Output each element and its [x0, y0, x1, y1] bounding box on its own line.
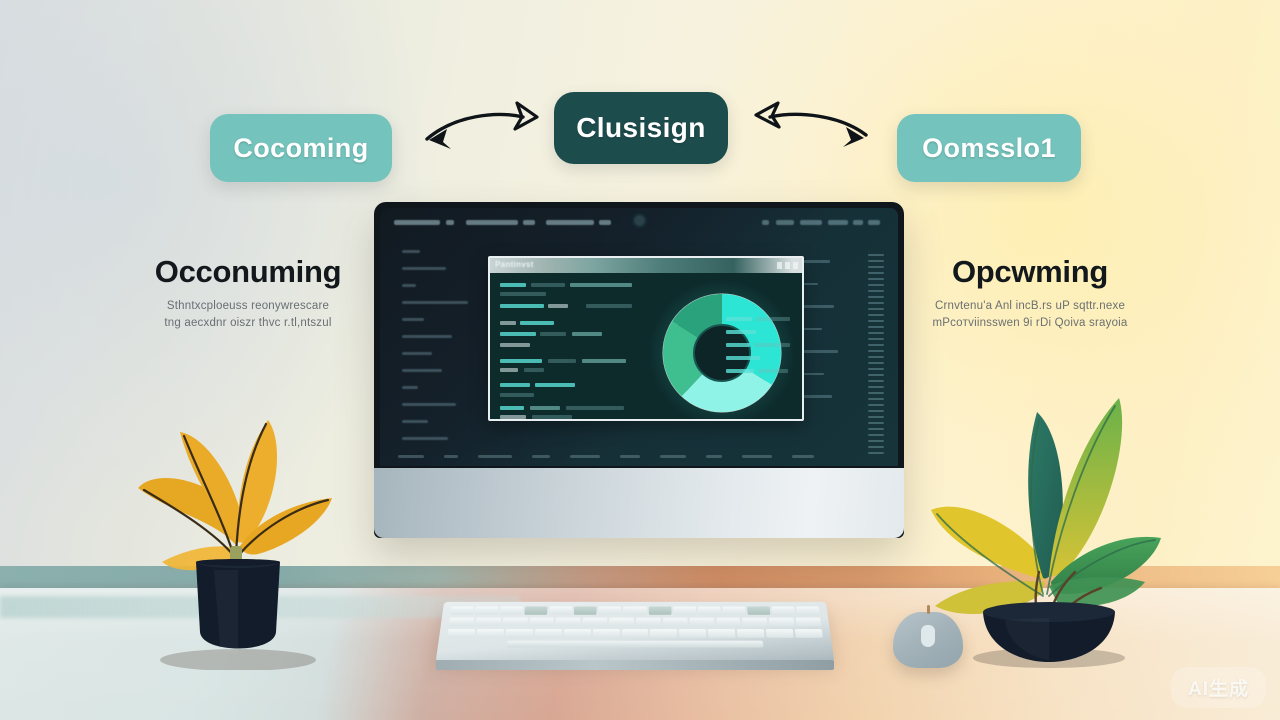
- donut-chart-svg: [660, 291, 784, 415]
- sidebar-line: [402, 403, 456, 406]
- report-text-line: [726, 356, 760, 360]
- topbar-status-2[interactable]: [776, 220, 794, 225]
- sidebar-line: [402, 369, 442, 372]
- report-text-line: [520, 321, 554, 325]
- right-ruler-scale: [868, 254, 884, 454]
- report-text-line: [500, 383, 530, 387]
- monitor-screen[interactable]: Pantinvst: [380, 208, 898, 466]
- inner-window[interactable]: Pantinvst: [488, 256, 804, 421]
- plant-left-pot: [160, 559, 316, 670]
- report-text-line: [524, 368, 544, 372]
- plant-left-leaves: [138, 420, 332, 570]
- report-text-line: [530, 406, 560, 410]
- report-text-line: [548, 304, 568, 308]
- inner-window-title: Pantinvst: [495, 260, 534, 269]
- keyboard-row: [450, 606, 820, 614]
- monitor-chin: [374, 468, 904, 538]
- report-text-line: [500, 321, 516, 325]
- report-text-line: [500, 304, 544, 308]
- monitor: Pantinvst: [374, 202, 904, 538]
- badge-right[interactable]: Oomsslo1: [897, 114, 1081, 182]
- topbar-status-1[interactable]: [762, 220, 769, 225]
- keyboard-deck[interactable]: [436, 602, 835, 662]
- keyboard-rows: [446, 606, 824, 647]
- keyboard-base-edge: [436, 660, 834, 670]
- side-left-title: Occonuming: [118, 256, 378, 289]
- badge-left[interactable]: Cocoming: [210, 114, 392, 182]
- plant-right-leaves: [931, 398, 1161, 618]
- topbar-status-6[interactable]: [868, 220, 880, 225]
- report-text-line: [500, 393, 534, 397]
- topbar-menu-item-3[interactable]: [546, 220, 594, 225]
- dashboard-sidebar: [402, 250, 502, 454]
- ai-generated-watermark: AI生成: [1171, 667, 1266, 708]
- side-right-title: Opcwming: [900, 256, 1160, 289]
- right-metric-lines: [804, 260, 856, 418]
- sidebar-line: [402, 301, 468, 304]
- sidebar-line: [402, 250, 420, 253]
- keyboard-row: [447, 629, 823, 638]
- sidebar-line: [402, 318, 424, 321]
- report-text-line: [500, 368, 518, 372]
- report-text-line: [500, 406, 524, 410]
- topbar-menu-item-2b[interactable]: [523, 220, 535, 225]
- keyboard-row: [449, 618, 822, 627]
- monitor-bezel: Pantinvst: [374, 202, 904, 538]
- side-left-line-1: Sthntxcploeuss reonywrescare: [118, 298, 378, 316]
- webcam-dot-icon: [635, 216, 644, 225]
- sidebar-line: [402, 437, 448, 440]
- sidebar-line: [402, 352, 432, 355]
- topbar-status-5[interactable]: [853, 220, 863, 225]
- report-text-line: [500, 343, 530, 347]
- curved-double-arrow-left-icon: [405, 95, 545, 170]
- dashboard-bottom-row: [398, 455, 875, 458]
- curved-double-arrow-right-icon: [748, 95, 888, 170]
- topbar-status-3[interactable]: [800, 220, 822, 225]
- report-text-line: [582, 359, 626, 363]
- side-right-description: Crnvtenu'a Anl incB.rs uP sqttr.nexe mPc…: [900, 298, 1160, 334]
- side-left-description: Sthntxcploeuss reonywrescare tnɡ aecxdnr…: [118, 298, 378, 334]
- report-text-line: [535, 383, 575, 387]
- report-text-line: [572, 332, 602, 336]
- donut-chart[interactable]: [660, 291, 784, 415]
- sidebar-line: [402, 267, 446, 270]
- sidebar-line: [402, 335, 452, 338]
- keyboard[interactable]: [440, 600, 830, 662]
- side-right-line-1: Crnvtenu'a Anl incB.rs uP sqttr.nexe: [900, 298, 1160, 316]
- minimize-icon[interactable]: [777, 262, 782, 269]
- plant-left: [118, 370, 348, 670]
- report-text-line: [500, 332, 536, 336]
- report-text-line: [586, 304, 632, 308]
- plant-right: [925, 350, 1165, 670]
- topbar-menu-item-3b[interactable]: [599, 220, 611, 225]
- report-text-line: [500, 292, 546, 296]
- report-text-line: [532, 415, 572, 419]
- report-text-line: [758, 369, 788, 373]
- topbar-menu-item-2[interactable]: [466, 220, 518, 225]
- report-text-line: [500, 415, 526, 419]
- report-text-line: [570, 283, 632, 287]
- report-text-line: [726, 343, 750, 347]
- side-left-line-2: tnɡ aecxdnr oiszr thvc r.tl,ntszul: [118, 315, 378, 333]
- report-text-line: [726, 369, 754, 373]
- inner-window-controls[interactable]: [777, 262, 798, 269]
- report-text-line: [548, 359, 576, 363]
- report-text-line: [726, 317, 752, 321]
- sidebar-line: [402, 284, 416, 287]
- inner-window-titlebar[interactable]: Pantinvst: [490, 258, 802, 273]
- report-text-line: [754, 343, 790, 347]
- close-icon[interactable]: [793, 262, 798, 269]
- report-text-line: [726, 330, 756, 334]
- sidebar-line: [402, 420, 428, 423]
- inner-window-body: [490, 273, 802, 419]
- badge-center[interactable]: Clusisign: [554, 92, 728, 164]
- sidebar-line: [402, 386, 418, 389]
- report-text-line: [500, 359, 542, 363]
- plant-right-pot: [973, 602, 1125, 668]
- side-right-line-2: mPcoтviinsswen 9i rDi Qoiva srayoia: [900, 315, 1160, 333]
- topbar-status-4[interactable]: [828, 220, 848, 225]
- report-text-line: [531, 283, 565, 287]
- side-panel-right: Opcwming Crnvtenu'a Anl incB.rs uP sqttr…: [900, 256, 1160, 333]
- maximize-icon[interactable]: [785, 262, 790, 269]
- report-text-line: [540, 332, 566, 336]
- report-text-line: [500, 283, 526, 287]
- side-panel-left: Occonuming Sthntxcploeuss reonywrescare …: [118, 256, 378, 333]
- report-text-line: [756, 317, 790, 321]
- topbar-menu-caret-1[interactable]: [446, 220, 454, 225]
- topbar-menu-item-1[interactable]: [394, 220, 440, 225]
- report-text-line: [566, 406, 624, 410]
- keyboard-spacebar[interactable]: [506, 641, 763, 648]
